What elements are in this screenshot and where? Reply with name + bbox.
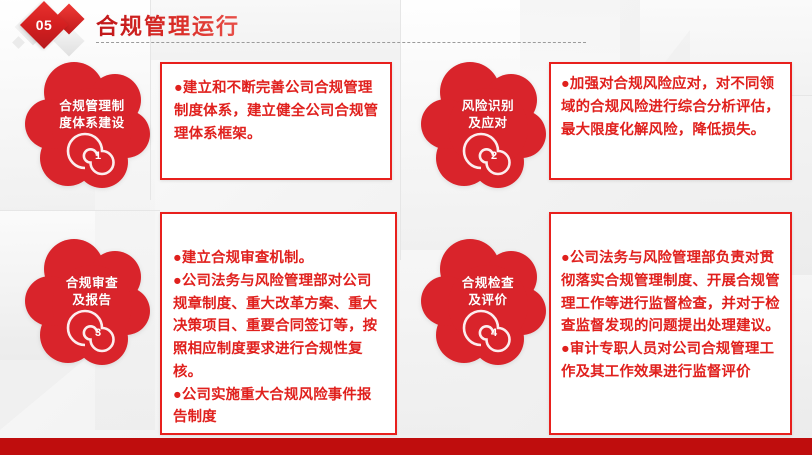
page-title: 合规管理运行	[96, 9, 240, 41]
card-paragraph: ●公司实施重大合规风险事件报告制度	[173, 384, 386, 430]
card-textbox-1: ●建立和不断完善公司合规管理制度体系，建立健全公司合规管理体系框架。	[160, 62, 392, 180]
card-textbox-2: ●加强对合规风险应对，对不同领域的合规风险进行综合分析评估，最大限度化解风险，降…	[549, 62, 792, 180]
card-textbox-3: ●建立合规审查机制。 ●公司法务与风险管理部对公司规章制度、重大改革方案、重大决…	[160, 212, 397, 435]
card-textbox-4: ●公司法务与风险管理部负责对贯彻落实合规管理制度、开展合规管理工作等进行监督检查…	[549, 212, 792, 435]
cloud-shape-icon	[22, 58, 162, 198]
card-paragraph: ●加强对合规风险应对，对不同领域的合规风险进行综合分析评估，最大限度化解风险，降…	[561, 73, 781, 141]
section-number: 05	[27, 8, 61, 42]
card-badge-2[interactable]: 风险识别 及应对 2	[418, 58, 558, 198]
card-badge-1[interactable]: 合规管理制 度体系建设 1	[22, 58, 162, 198]
slide-header: 05 合规管理运行	[0, 0, 812, 55]
card-text-2: ●加强对合规风险应对，对不同领域的合规风险进行综合分析评估，最大限度化解风险，降…	[551, 64, 790, 141]
card-badge-4[interactable]: 合规检查 及评价 4	[418, 235, 558, 375]
card-paragraph: ●建立合规审查机制。	[173, 247, 386, 270]
cloud-shape-icon	[418, 235, 558, 375]
card-text-1: ●建立和不断完善公司合规管理制度体系，建立健全公司合规管理体系框架。	[162, 64, 390, 145]
card-paragraph: ●审计专职人员对公司合规管理工作及其工作效果进行监督评价	[561, 338, 781, 384]
decorative-diamond-icon	[12, 36, 25, 49]
cloud-shape-icon	[418, 58, 558, 198]
title-dashed-rule	[96, 42, 586, 43]
card-paragraph: ●公司法务与风险管理部对公司规章制度、重大改革方案、重大决策项目、重要合同签订等…	[173, 270, 386, 384]
card-badge-3[interactable]: 合规审查 及报告 3	[22, 235, 162, 375]
slide-canvas: 05 合规管理运行 合规管理制 度体系建设 1 ●建立	[0, 0, 812, 455]
card-text-3: ●建立合规审查机制。 ●公司法务与风险管理部对公司规章制度、重大改革方案、重大决…	[162, 214, 395, 429]
background-divider	[0, 210, 160, 211]
cloud-shape-icon	[22, 235, 162, 375]
card-text-4: ●公司法务与风险管理部负责对贯彻落实合规管理制度、开展合规管理工作等进行监督检查…	[551, 214, 790, 384]
card-paragraph: ●建立和不断完善公司合规管理制度体系，建立健全公司合规管理体系框架。	[174, 77, 380, 145]
footer-bar	[0, 438, 812, 455]
card-paragraph: ●公司法务与风险管理部负责对贯彻落实合规管理制度、开展合规管理工作等进行监督检查…	[561, 247, 781, 338]
